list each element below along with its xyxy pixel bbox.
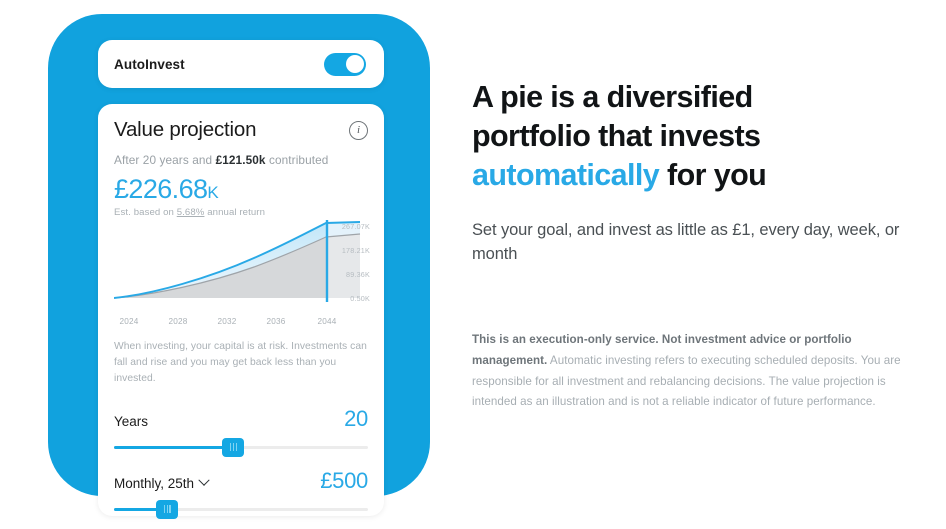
projection-value: £226.68K (114, 176, 368, 203)
grip-line (169, 505, 170, 513)
marketing-panel: A pie is a diversified portfolio that in… (472, 78, 908, 413)
autoinvest-toggle[interactable] (324, 53, 366, 76)
grip-line (236, 443, 237, 451)
grip-line (167, 505, 168, 513)
chart-x-axis: 2024 2028 2032 2036 2044 (114, 317, 328, 331)
grip-line (230, 443, 231, 451)
autoinvest-label: AutoInvest (114, 57, 185, 72)
grip-line (233, 443, 234, 451)
y-tick-1: 178.21K (342, 246, 370, 255)
subheadline: Set your goal, and invest as little as £… (472, 218, 902, 266)
contribution-slider-row: Monthly, 25th £500 (114, 468, 368, 494)
chevron-down-icon (198, 475, 209, 486)
projection-value-number: £226.68 (114, 174, 207, 204)
headline-line-1: A pie is a diversified (472, 80, 753, 114)
years-slider-value: 20 (344, 406, 368, 432)
x-tick-4: 2044 (317, 317, 336, 326)
subtitle-suffix: contributed (266, 153, 329, 167)
projection-chart: 267.07K 178.21K 89.36K 0.50K (114, 220, 368, 316)
years-slider-block: Years 20 (114, 406, 368, 449)
contribution-slider-value: £500 (320, 468, 368, 494)
value-projection-card: Value projection i After 20 years and £1… (98, 104, 384, 516)
frequency-dropdown[interactable]: Monthly, 25th (114, 476, 208, 491)
subtitle-prefix: After 20 years and (114, 153, 216, 167)
x-tick-2: 2032 (217, 317, 236, 326)
x-tick-3: 2036 (266, 317, 285, 326)
chart-y-axis: 267.07K 178.21K 89.36K 0.50K (330, 220, 370, 302)
annual-return-rate[interactable]: 5.68% (177, 207, 205, 218)
projection-header: Value projection i (114, 118, 368, 142)
note-prefix: Est. based on (114, 207, 177, 218)
x-tick-0: 2024 (119, 317, 138, 326)
grip-line (164, 505, 165, 513)
page-title: Value projection (114, 118, 256, 142)
contribution-slider-track[interactable] (114, 508, 368, 511)
risk-disclaimer: When investing, your capital is at risk.… (114, 339, 372, 387)
contribution-slider-thumb[interactable] (156, 500, 178, 519)
note-suffix: annual return (204, 207, 265, 218)
years-slider-fill (114, 446, 233, 449)
subtitle-amount: £121.50k (216, 153, 266, 167)
page-root: AutoInvest Value projection i After 20 y… (0, 0, 946, 529)
projection-value-unit: K (207, 183, 218, 202)
y-tick-3: 0.50K (350, 294, 370, 303)
contribution-slider-block: Monthly, 25th £500 (114, 468, 368, 511)
info-icon[interactable]: i (349, 121, 368, 140)
headline-tail: for you (659, 158, 766, 192)
years-slider-track[interactable] (114, 446, 368, 449)
headline-accent-word: automatically (472, 158, 659, 192)
phone-mockup: AutoInvest Value projection i After 20 y… (0, 0, 450, 529)
projection-rate-note: Est. based on 5.68% annual return (114, 207, 368, 218)
years-slider-label: Years (114, 414, 148, 429)
projection-subtitle: After 20 years and £121.50k contributed (114, 153, 368, 167)
y-tick-2: 89.36K (346, 270, 370, 279)
y-tick-0: 267.07K (342, 222, 370, 231)
legal-disclaimer: This is an execution-only service. Not i… (472, 330, 910, 413)
toggle-knob (346, 55, 364, 73)
frequency-label: Monthly, 25th (114, 476, 194, 491)
years-slider-row: Years 20 (114, 406, 368, 432)
headline: A pie is a diversified portfolio that in… (472, 78, 908, 195)
headline-line-2: portfolio that invests (472, 119, 760, 153)
autoinvest-card: AutoInvest (98, 40, 384, 88)
years-slider-thumb[interactable] (222, 438, 244, 457)
x-tick-1: 2028 (168, 317, 187, 326)
